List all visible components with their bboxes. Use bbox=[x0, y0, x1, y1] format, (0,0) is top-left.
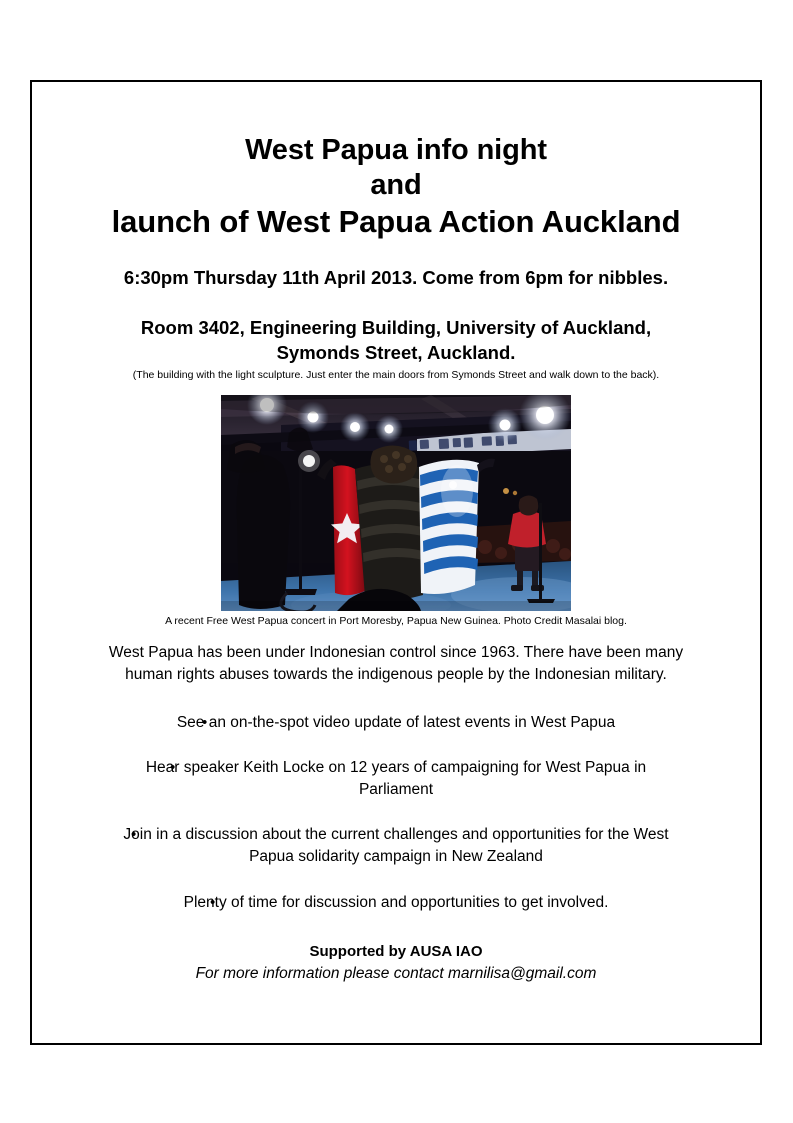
list-item: • See an on-the-spot video update of lat… bbox=[146, 712, 646, 734]
intro-paragraph: West Papua has been under Indonesian con… bbox=[106, 642, 686, 686]
venue-line-1: Room 3402, Engineering Building, Univers… bbox=[38, 316, 754, 341]
flyer-page: West Papua info night and launch of West… bbox=[0, 0, 793, 1123]
list-item-label: Join in a discussion about the current c… bbox=[123, 826, 668, 865]
list-item-label: Hear speaker Keith Locke on 12 years of … bbox=[146, 759, 646, 798]
event-date-line: 6:30pm Thursday 11th April 2013. Come fr… bbox=[38, 266, 754, 289]
venue-directions-note: (The building with the light sculpture. … bbox=[38, 369, 754, 382]
flyer-title: West Papua info night and launch of West… bbox=[38, 133, 754, 240]
photo-block bbox=[38, 395, 754, 611]
list-item-label: Plenty of time for discussion and opport… bbox=[184, 894, 609, 911]
bullet-marker-icon: • bbox=[202, 712, 207, 733]
supported-by-line: Supported by AUSA IAO bbox=[38, 942, 754, 962]
list-item-label: See an on-the-spot video update of lates… bbox=[177, 714, 615, 731]
title-line-1: West Papua info night bbox=[38, 133, 754, 168]
list-item: • Hear speaker Keith Locke on 12 years o… bbox=[126, 757, 666, 801]
event-venue: Room 3402, Engineering Building, Univers… bbox=[38, 316, 754, 382]
bullet-marker-icon: • bbox=[131, 824, 136, 845]
venue-line-2: Symonds Street, Auckland. bbox=[38, 341, 754, 366]
concert-photo bbox=[221, 395, 571, 611]
list-item: • Plenty of time for discussion and oppo… bbox=[136, 892, 656, 914]
contact-line: For more information please contact marn… bbox=[38, 964, 754, 985]
list-item: • Join in a discussion about the current… bbox=[106, 824, 686, 868]
program-bullet-list: • See an on-the-spot video update of lat… bbox=[38, 712, 754, 914]
flyer-content: West Papua info night and launch of West… bbox=[30, 80, 762, 1045]
bullet-marker-icon: • bbox=[210, 892, 215, 913]
title-line-2: and bbox=[38, 168, 754, 203]
concert-photo-illustration bbox=[221, 395, 571, 611]
photo-caption: A recent Free West Papua concert in Port… bbox=[38, 615, 754, 628]
bullet-marker-icon: • bbox=[170, 757, 175, 778]
title-line-3: launch of West Papua Action Auckland bbox=[38, 203, 754, 240]
